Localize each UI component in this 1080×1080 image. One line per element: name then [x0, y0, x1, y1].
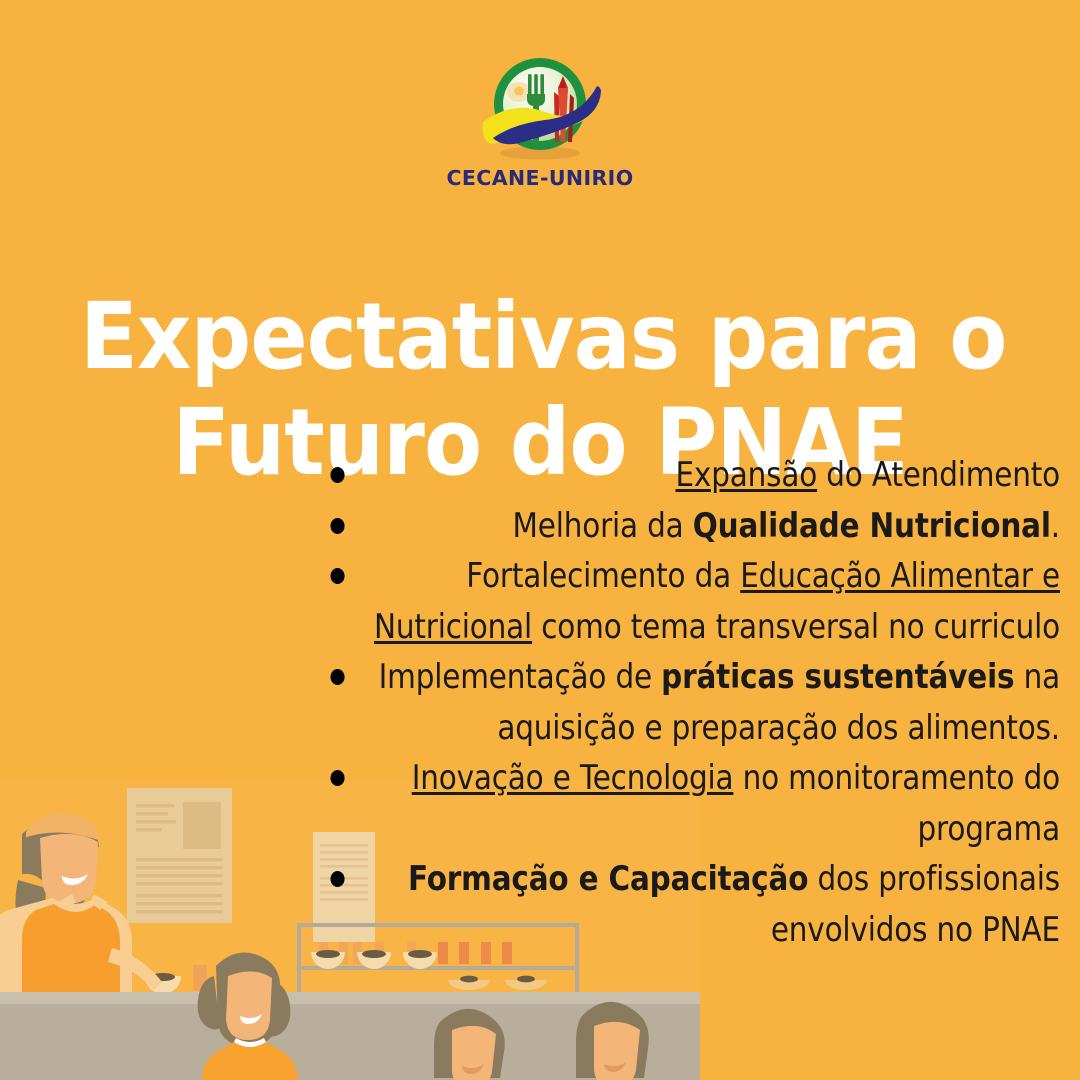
bullet-dot-icon: [330, 669, 344, 685]
list-item-text: Implementação de: [379, 657, 662, 696]
counter-items: [145, 965, 207, 994]
list-item-text: do Atendimento: [817, 455, 1060, 494]
page-title-line-1: Expectativas para o: [80, 284, 1000, 391]
boy-student-1-figure: [424, 1009, 536, 1080]
list-item-text: no monitoramento do programa: [733, 758, 1060, 848]
bullet-dot-icon: [330, 518, 344, 534]
bullet-dot-icon: [330, 467, 344, 483]
bullet-dot-icon: [330, 770, 344, 786]
list-item-text: como tema transversal no curriculo: [532, 607, 1060, 646]
list-item: Expansão do Atendimento: [308, 450, 1060, 501]
boy-student-2-figure: [566, 1002, 678, 1080]
shelf-bowls-row2: [311, 950, 547, 990]
list-item-text: Melhoria da: [512, 506, 692, 545]
list-item-text: Fortalecimento da: [466, 556, 740, 595]
shelf-bowls-row3: [311, 1017, 502, 1037]
list-item-text: Qualidade Nutricional: [693, 506, 1051, 545]
logo-wordmark: CECANE-UNIRIO: [446, 168, 633, 189]
list-item-text: Inovação e Tecnologia: [412, 758, 734, 797]
cook-woman-figure: [0, 813, 162, 1080]
cecane-unirio-logo-icon: [475, 52, 605, 167]
logo-block: CECANE-UNIRIO: [0, 52, 1080, 189]
expectations-list: Expansão do AtendimentoMelhoria da Quali…: [205, 450, 1060, 955]
list-item-text: dos profissionais envolvidos no PNAE: [771, 859, 1060, 949]
list-item: Implementação de práticas sustentáveis n…: [308, 652, 1060, 753]
serving-counter: [0, 992, 700, 1080]
list-item-text: práticas sustentáveis: [661, 657, 1014, 696]
bullet-dot-icon: [330, 871, 344, 887]
list-item-text: .: [1051, 506, 1060, 545]
list-item: Fortalecimento da Educação Alimentar e N…: [308, 551, 1060, 652]
girl-student-figure: [198, 953, 298, 1080]
list-item: Inovação e Tecnologia no monitoramento d…: [308, 753, 1060, 854]
list-item-text: Expansão: [675, 455, 817, 494]
list-item: Formação e Capacitação dos profissionais…: [308, 854, 1060, 955]
list-item: Melhoria da Qualidade Nutricional.: [308, 501, 1060, 552]
poster-canvas: CECANE-UNIRIO Expectativas para o Futuro…: [0, 0, 1080, 1080]
bullet-dot-icon: [330, 568, 344, 584]
list-item-text: Formação e Capacitação: [408, 859, 808, 898]
